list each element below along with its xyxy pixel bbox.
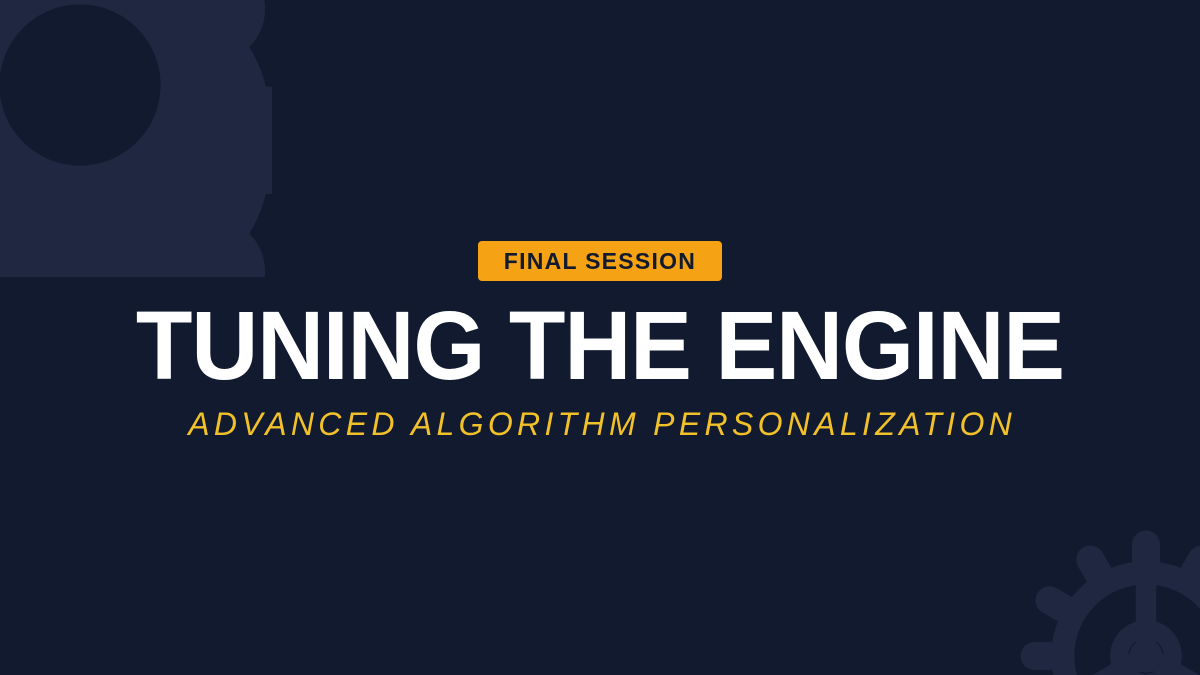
slide-content: FINAL SESSION TUNING THE ENGINE ADVANCED… (0, 0, 1200, 675)
status-badge: FINAL SESSION (478, 241, 722, 281)
page-subtitle: ADVANCED ALGORITHM PERSONALIZATION (184, 407, 1016, 442)
page-title: TUNING THE ENGINE (136, 297, 1064, 396)
presentation-slide: FINAL SESSION TUNING THE ENGINE ADVANCED… (0, 0, 1200, 675)
